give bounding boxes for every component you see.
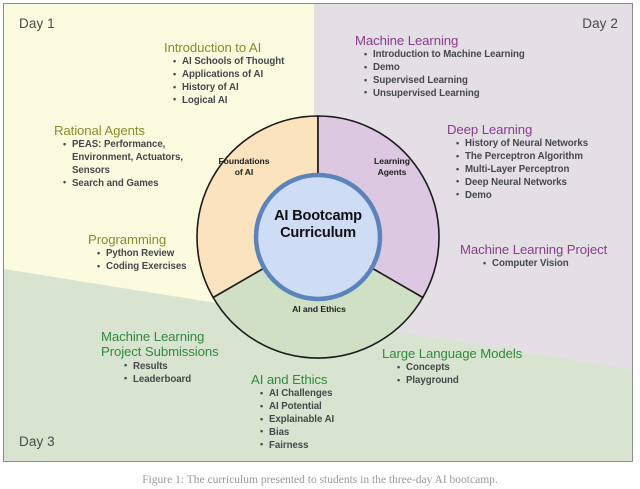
list-item: Computer Vision <box>492 258 633 271</box>
list-item: Concepts <box>406 362 557 375</box>
list-item: Introduction to Machine Learning <box>373 49 570 62</box>
list-item: Supervised Learning <box>373 75 570 88</box>
topic-list: History of Neural Networks The Perceptro… <box>447 138 633 202</box>
list-item: Deep Neural Networks <box>465 177 633 190</box>
topic-introduction-to-ai: Introduction to AI AI Schools of Thought… <box>164 40 314 108</box>
topic-machine-learning: Machine Learning Introduction to Machine… <box>355 33 570 101</box>
topic-deep-learning: Deep Learning History of Neural Networks… <box>447 122 633 203</box>
topic-rational-agents: Rational Agents PEAS: Performance, Envir… <box>54 123 202 191</box>
list-item: Multi-Layer Perceptron <box>465 164 633 177</box>
list-item: Bias <box>269 427 386 440</box>
hub-text-line1: AI Bootcamp <box>274 208 362 224</box>
curriculum-figure: Day 1 Day 2 Day 3 Introduction to AI AI … <box>3 3 633 462</box>
list-item: The Perceptron Algorithm <box>465 151 633 164</box>
topic-list: AI Schools of Thought Applications of AI… <box>164 56 314 108</box>
topic-title-line1: Machine Learning <box>101 329 204 344</box>
list-item: Unsupervised Learning <box>373 88 570 101</box>
wheel-hub-text: AI Bootcamp Curriculum <box>248 208 388 242</box>
list-item: Playground <box>406 375 557 388</box>
hub-text-line2: Curriculum <box>280 225 356 241</box>
list-item: Fairness <box>269 440 386 453</box>
curriculum-wheel: Foundations of AI Learning Agents AI and… <box>195 114 441 360</box>
list-item: Applications of AI <box>182 69 314 82</box>
segment-label-foundations: Foundations of AI <box>205 156 283 177</box>
list-item: PEAS: Performance, Environment, Actuator… <box>72 139 202 178</box>
segment-label-line2: of AI <box>235 167 254 177</box>
topic-list: PEAS: Performance, Environment, Actuator… <box>54 139 202 191</box>
segment-label-line1: Foundations <box>218 156 269 166</box>
list-item: History of AI <box>182 82 314 95</box>
list-item: AI Schools of Thought <box>182 56 314 69</box>
topic-list: Introduction to Machine Learning Demo Su… <box>355 49 570 101</box>
list-item: History of Neural Networks <box>465 138 633 151</box>
topic-title: Deep Learning <box>447 122 633 137</box>
segment-label-line2: Agents <box>378 167 407 177</box>
topic-title: Introduction to AI <box>164 40 314 55</box>
figure-caption: Figure 1: The curriculum presented to st… <box>0 474 640 486</box>
topic-title: Machine Learning <box>355 33 570 48</box>
day2-label: Day 2 <box>582 16 618 31</box>
topic-title: Rational Agents <box>54 123 202 138</box>
list-item: Search and Games <box>72 178 202 191</box>
topic-list: Computer Vision <box>460 258 633 271</box>
day3-label: Day 3 <box>19 434 55 449</box>
segment-label-learning-agents: Learning Agents <box>353 156 431 177</box>
list-item: Demo <box>465 190 633 203</box>
segment-label-ai-and-ethics: AI and Ethics <box>279 304 359 315</box>
topic-list: Results Leaderboard <box>101 361 271 387</box>
list-item: AI Potential <box>269 401 386 414</box>
topic-ai-and-ethics: AI and Ethics AI Challenges AI Potential… <box>251 372 386 453</box>
segment-label-line1: Learning <box>374 156 410 166</box>
topic-list: Concepts Playground <box>382 362 557 388</box>
topic-title: Machine Learning Project <box>460 242 633 257</box>
list-item: Explainable AI <box>269 414 386 427</box>
topic-title: AI and Ethics <box>251 372 386 387</box>
list-item: AI Challenges <box>269 388 386 401</box>
list-item: Demo <box>373 62 570 75</box>
day1-label: Day 1 <box>19 16 55 31</box>
list-item: Logical AI <box>182 95 314 108</box>
topic-list: AI Challenges AI Potential Explainable A… <box>251 388 386 452</box>
topic-machine-learning-project: Machine Learning Project Computer Vision <box>460 242 633 271</box>
